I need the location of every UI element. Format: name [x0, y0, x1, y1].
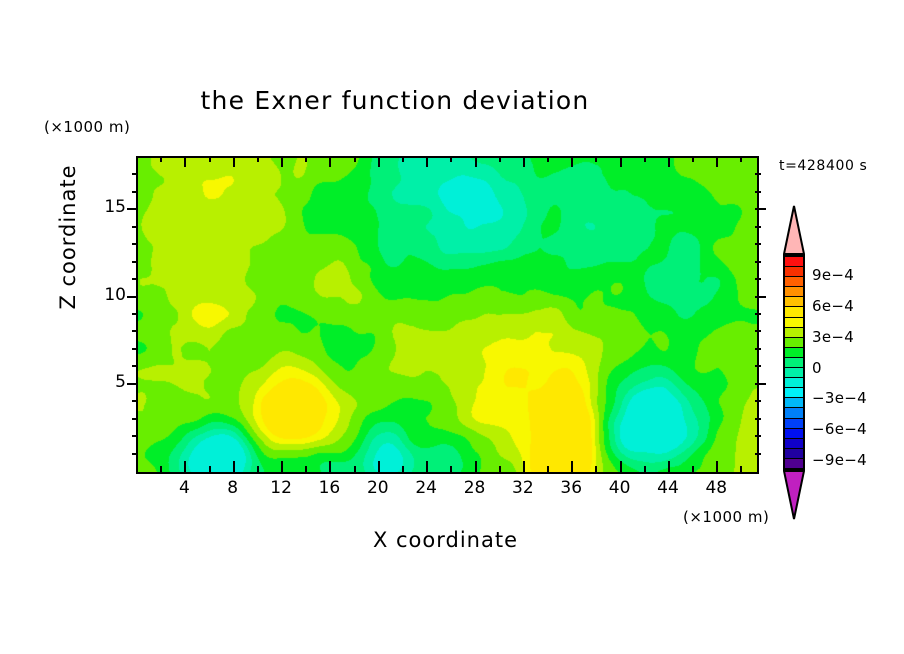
y-tick-right-15: [755, 208, 766, 210]
y-tick-right-14: [755, 226, 761, 228]
colorbar-under-arrow-icon: [783, 470, 805, 520]
x-tick-4: [184, 461, 186, 472]
colorbar-label-5: −6e−4: [812, 420, 867, 438]
x-tick-label-40: 40: [600, 478, 640, 498]
x-tick-label-32: 32: [503, 478, 543, 498]
x-tick-36: [571, 461, 573, 472]
timestamp-annotation: t=428400 s: [779, 158, 867, 174]
colorbar-label-1: 6e−4: [812, 297, 854, 315]
y-tick-right-16: [755, 191, 761, 193]
colorbar-band-18: [785, 439, 803, 449]
colorbar-band-19: [785, 449, 803, 459]
colorbar-band-11: [785, 368, 803, 378]
colorbar-band-15: [785, 408, 803, 418]
contour-plot-area: [136, 156, 759, 474]
x-tick-2: [160, 466, 162, 472]
x-tick-18: [354, 466, 356, 472]
colorbar-band-1: [785, 267, 803, 277]
x-tick-40: [620, 461, 622, 472]
colorbar-band-13: [785, 388, 803, 398]
x-tick-26: [450, 466, 452, 472]
y-tick-17: [132, 173, 138, 175]
x-tick-top-42: [644, 156, 646, 162]
colorbar-band-16: [785, 419, 803, 429]
colorbar-band-6: [785, 318, 803, 328]
x-tick-6: [209, 466, 211, 472]
x-tick-top-16: [329, 156, 331, 167]
x-tick-label-36: 36: [551, 478, 591, 498]
y-tick-right-17: [755, 173, 761, 175]
colorbar-band-8: [785, 338, 803, 348]
x-tick-16: [329, 461, 331, 472]
y-tick-right-6: [755, 365, 761, 367]
page-title: the Exner function deviation: [0, 86, 790, 115]
x-tick-32: [523, 461, 525, 472]
colorbar: 9e−46e−43e−40−3e−4−6e−4−9e−4: [779, 205, 811, 520]
y-tick-right-5: [755, 383, 766, 385]
x-tick-12: [281, 461, 283, 472]
y-tick-4: [132, 400, 138, 402]
x-tick-top-26: [450, 156, 452, 162]
colorbar-band-14: [785, 398, 803, 408]
x-tick-top-36: [571, 156, 573, 167]
x-tick-28: [475, 461, 477, 472]
colorbar-band-0: [785, 257, 803, 267]
y-tick-7: [132, 348, 138, 350]
x-tick-top-6: [209, 156, 211, 162]
colorbar-label-6: −9e−4: [812, 451, 867, 469]
colorbar-band-17: [785, 429, 803, 439]
x-tick-10: [257, 466, 259, 472]
y-tick-8: [132, 330, 138, 332]
y-tick-15: [127, 208, 138, 210]
y-tick-13: [132, 243, 138, 245]
x-tick-top-20: [378, 156, 380, 167]
colorbar-label-3: 0: [812, 359, 822, 377]
x-tick-top-2: [160, 156, 162, 162]
x-tick-38: [595, 466, 597, 472]
x-tick-label-48: 48: [696, 478, 736, 498]
x-tick-top-38: [595, 156, 597, 162]
x-tick-50: [740, 466, 742, 472]
x-tick-14: [305, 466, 307, 472]
x-tick-30: [499, 466, 501, 472]
y-tick-16: [132, 191, 138, 193]
y-tick-label-15: 15: [92, 197, 126, 217]
y-axis-unit-label: (×1000 m): [44, 118, 130, 136]
y-tick-right-7: [755, 348, 761, 350]
y-tick-6: [132, 365, 138, 367]
colorbar-band-2: [785, 277, 803, 287]
y-tick-11: [132, 278, 138, 280]
x-tick-top-24: [426, 156, 428, 167]
x-tick-8: [233, 461, 235, 472]
colorbar-label-0: 9e−4: [812, 266, 854, 284]
x-tick-top-30: [499, 156, 501, 162]
x-tick-24: [426, 461, 428, 472]
x-tick-top-4: [184, 156, 186, 167]
y-tick-label-5: 5: [92, 372, 126, 392]
contour-field-canvas: [138, 158, 757, 472]
x-tick-label-16: 16: [309, 478, 349, 498]
colorbar-band-7: [785, 328, 803, 338]
x-tick-22: [402, 466, 404, 472]
x-tick-48: [716, 461, 718, 472]
x-tick-top-14: [305, 156, 307, 162]
x-tick-label-44: 44: [648, 478, 688, 498]
y-tick-10: [127, 296, 138, 298]
x-tick-label-12: 12: [261, 478, 301, 498]
y-tick-14: [132, 226, 138, 228]
y-tick-5: [127, 383, 138, 385]
x-tick-top-50: [740, 156, 742, 162]
x-tick-44: [668, 461, 670, 472]
y-tick-12: [132, 261, 138, 263]
x-tick-top-22: [402, 156, 404, 162]
colorbar-band-20: [785, 459, 803, 468]
x-tick-top-12: [281, 156, 283, 167]
x-tick-top-44: [668, 156, 670, 167]
x-axis-unit-label: (×1000 m): [683, 508, 769, 526]
x-tick-42: [644, 466, 646, 472]
colorbar-band-9: [785, 348, 803, 358]
y-tick-right-4: [755, 400, 761, 402]
x-tick-label-20: 20: [358, 478, 398, 498]
x-tick-top-40: [620, 156, 622, 167]
x-tick-label-4: 4: [164, 478, 204, 498]
y-tick-2: [132, 435, 138, 437]
y-tick-right-11: [755, 278, 761, 280]
y-tick-right-9: [755, 313, 761, 315]
x-tick-34: [547, 466, 549, 472]
y-tick-right-12: [755, 261, 761, 263]
y-tick-right-8: [755, 330, 761, 332]
x-tick-label-24: 24: [406, 478, 446, 498]
y-axis-title: Z coordinate: [56, 147, 80, 327]
y-tick-label-10: 10: [92, 285, 126, 305]
y-tick-3: [132, 418, 138, 420]
colorbar-label-2: 3e−4: [812, 328, 854, 346]
y-tick-right-1: [755, 453, 761, 455]
colorbar-band-10: [785, 358, 803, 368]
colorbar-label-4: −3e−4: [812, 389, 867, 407]
colorbar-band-3: [785, 287, 803, 297]
x-tick-20: [378, 461, 380, 472]
x-tick-label-28: 28: [455, 478, 495, 498]
y-tick-9: [132, 313, 138, 315]
x-tick-top-18: [354, 156, 356, 162]
y-tick-1: [132, 453, 138, 455]
y-tick-right-3: [755, 418, 761, 420]
colorbar-over-arrow-icon: [783, 205, 805, 255]
y-tick-right-2: [755, 435, 761, 437]
colorbar-band-12: [785, 378, 803, 388]
x-tick-top-48: [716, 156, 718, 167]
x-tick-top-28: [475, 156, 477, 167]
x-tick-top-10: [257, 156, 259, 162]
colorbar-band-5: [785, 307, 803, 317]
x-tick-label-8: 8: [213, 478, 253, 498]
colorbar-band-4: [785, 297, 803, 307]
y-tick-right-13: [755, 243, 761, 245]
x-tick-top-46: [692, 156, 694, 162]
x-tick-top-34: [547, 156, 549, 162]
x-axis-title: X coordinate: [136, 528, 755, 552]
x-tick-46: [692, 466, 694, 472]
colorbar-bands: [783, 255, 805, 470]
x-tick-top-8: [233, 156, 235, 167]
x-tick-top-32: [523, 156, 525, 167]
y-tick-right-10: [755, 296, 766, 298]
